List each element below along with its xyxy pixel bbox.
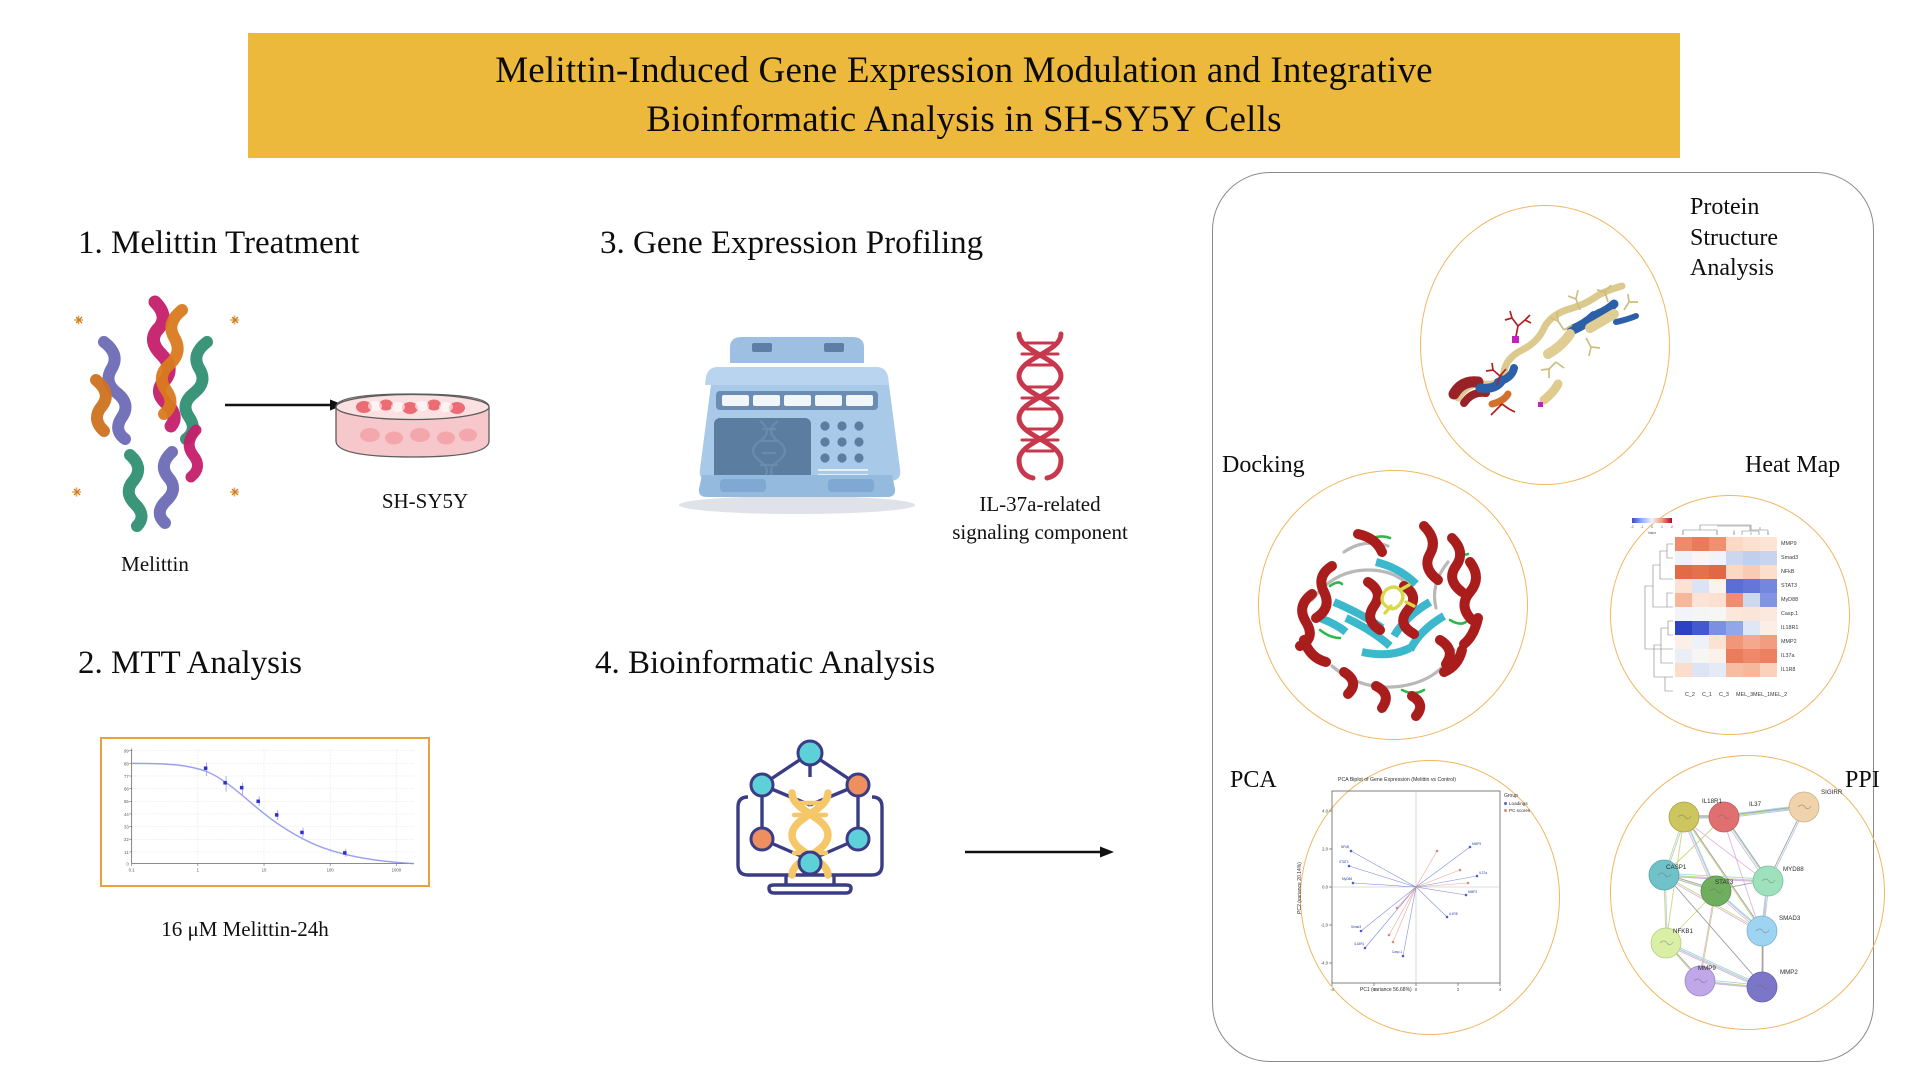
heatmap-cell xyxy=(1726,565,1743,579)
ppi-node-sigirr xyxy=(1789,792,1819,822)
heatmap-cell xyxy=(1743,537,1760,551)
heatmap-column-label: MEL_1 xyxy=(1753,692,1770,698)
heatmap-cell xyxy=(1709,565,1726,579)
pca-legend-label-loadings: Loadings xyxy=(1509,801,1528,806)
heatmap-cell xyxy=(1709,621,1726,635)
heatmap-cell xyxy=(1709,663,1726,677)
heatmap-column-label: C_1 xyxy=(1702,692,1712,698)
pca-legend-item: Loadings xyxy=(1504,801,1530,806)
svg-text:77: 77 xyxy=(124,774,129,779)
heatmap-cell xyxy=(1743,593,1760,607)
heatmap-cell xyxy=(1692,579,1709,593)
panel-label-docking: Docking xyxy=(1222,450,1305,481)
svg-text:0: 0 xyxy=(126,862,129,867)
heatmap-cell xyxy=(1692,537,1709,551)
heatmap-row-label: NFkB xyxy=(1781,565,1798,579)
section-heading-gene-expression-profiling: 3. Gene Expression Profiling xyxy=(600,225,983,262)
pca-legend-title: Group xyxy=(1504,793,1530,799)
heatmap-cell xyxy=(1675,649,1692,663)
heatmap-cell xyxy=(1675,579,1692,593)
heatmap-row-labels: MMP9 Smad3 NFkB STAT3 MyD88 Casp.1 IL18R… xyxy=(1781,537,1798,677)
heatmap-row-label: Casp.1 xyxy=(1781,607,1798,621)
heatmap-cell-grid xyxy=(1675,537,1777,677)
heatmap-cell xyxy=(1692,649,1709,663)
ppi-node-myd88 xyxy=(1753,866,1783,896)
heatmap-cell xyxy=(1675,621,1692,635)
heatmap-cell xyxy=(1709,607,1726,621)
ppi-node-mmp2 xyxy=(1747,972,1777,1002)
mtt-dose-response-chart: 9988 7766 5544 3322 110 0.11 10100 1000 xyxy=(100,737,430,887)
title-line-2: Bioinformatic Analysis in SH-SY5Y Cells xyxy=(646,99,1281,140)
section-heading-bioinformatic-analysis: 4. Bioinformatic Analysis xyxy=(595,645,935,682)
heatmap-cell xyxy=(1726,579,1743,593)
pca-y-axis-label: PC2 (variance 20.14%) xyxy=(1297,862,1303,914)
caption-dna-signaling: IL-37a-related signaling component xyxy=(940,490,1140,547)
ppi-node-label-nfkb1: NFKB1 xyxy=(1673,928,1693,935)
heatmap-cell xyxy=(1709,635,1726,649)
arrow-melittin-to-cells-icon xyxy=(225,398,345,412)
heatmap-cell xyxy=(1743,649,1760,663)
heatmap-cell xyxy=(1760,635,1777,649)
melittin-ribbon-structure-icon xyxy=(60,280,250,530)
svg-text:4: 4 xyxy=(1499,987,1502,992)
heatmap-column-label: C_2 xyxy=(1685,692,1695,698)
panel-label-pca: PCA xyxy=(1230,765,1277,796)
svg-text:33: 33 xyxy=(124,825,129,830)
heatmap-cell xyxy=(1675,551,1692,565)
ppi-network-graph xyxy=(1628,775,1868,1020)
section-heading-mtt-analysis: 2. MTT Analysis xyxy=(78,645,302,682)
heatmap-row-label: IL1R8 xyxy=(1781,663,1798,677)
ppi-node-label-il37: IL37 xyxy=(1749,801,1761,808)
pca-x-axis-label: PC1 (variance 56.68%) xyxy=(1360,987,1412,993)
heatmap-cell xyxy=(1675,663,1692,677)
heatmap-column-label: C_3 xyxy=(1719,692,1729,698)
pca-legend-item: PC scores xyxy=(1504,808,1530,813)
heatmap-cell xyxy=(1760,607,1777,621)
heatmap-cell xyxy=(1743,579,1760,593)
heatmap-cell xyxy=(1675,607,1692,621)
svg-text:-4: -4 xyxy=(1330,987,1334,992)
heatmap-cell xyxy=(1760,593,1777,607)
heatmap-cell xyxy=(1692,621,1709,635)
heatmap-row-label: Smad3 xyxy=(1781,551,1798,565)
heatmap-cell xyxy=(1726,621,1743,635)
heatmap-cell xyxy=(1692,663,1709,677)
heatmap-cell xyxy=(1743,621,1760,635)
heatmap-row-label: MyD88 xyxy=(1781,593,1798,607)
svg-text:22: 22 xyxy=(124,837,129,842)
svg-text:100: 100 xyxy=(327,867,335,872)
pca-legend: Group Loadings PC scores xyxy=(1504,793,1530,814)
protein-structure-ribbon-icon xyxy=(1440,270,1650,420)
heatmap-cell xyxy=(1709,537,1726,551)
heatmap-cell xyxy=(1760,663,1777,677)
caption-melittin: Melittin xyxy=(90,550,220,578)
svg-text:Casp.1: Casp.1 xyxy=(1392,950,1402,954)
heatmap-cell xyxy=(1709,593,1726,607)
heatmap-row-label: MMP9 xyxy=(1781,537,1798,551)
pca-title: PCA Biplot of Gene Expression (Melittin … xyxy=(1338,777,1456,783)
svg-text:MMP2: MMP2 xyxy=(1468,890,1477,894)
heatmap-cell xyxy=(1675,593,1692,607)
heatmap-cell xyxy=(1760,649,1777,663)
ppi-node-label-il18r1: IL18R1 xyxy=(1702,798,1722,805)
heatmap-cell xyxy=(1743,565,1760,579)
heatmap-row-label: IL18R1 xyxy=(1781,621,1798,635)
svg-text:55: 55 xyxy=(124,799,129,804)
svg-text:IL1R8: IL1R8 xyxy=(1449,912,1458,916)
heatmap-cell xyxy=(1726,635,1743,649)
section-heading-melittin-treatment: 1. Melittin Treatment xyxy=(78,225,359,262)
heatmap-cell xyxy=(1726,607,1743,621)
title-banner: Melittin-Induced Gene Expression Modulat… xyxy=(248,33,1680,158)
svg-text:MyD88: MyD88 xyxy=(1342,877,1352,881)
svg-text:2.0: 2.0 xyxy=(1322,847,1328,852)
heatmap-cell xyxy=(1692,635,1709,649)
svg-text:0: 0 xyxy=(1415,987,1418,992)
svg-text:MMP9: MMP9 xyxy=(1472,842,1481,846)
svg-text:4.0: 4.0 xyxy=(1322,809,1328,814)
pca-legend-label-pc-scores: PC scores xyxy=(1509,808,1530,813)
svg-text:66: 66 xyxy=(124,787,129,792)
heatmap-cell xyxy=(1760,621,1777,635)
heatmap-cell xyxy=(1675,635,1692,649)
pca-legend-swatch-pc-scores xyxy=(1504,809,1507,812)
svg-text:STAT3: STAT3 xyxy=(1339,860,1349,864)
heatmap-column-labels: C_2 C_1 C_3 MEL_3 MEL_1 MEL_2 xyxy=(1675,681,1777,699)
heatmap-cell xyxy=(1692,607,1709,621)
svg-text:44: 44 xyxy=(124,812,129,817)
ppi-node-label-stat3: STAT3 xyxy=(1715,879,1733,886)
ppi-node-il37 xyxy=(1709,802,1739,832)
heatmap-cell xyxy=(1709,649,1726,663)
heatmap-cell xyxy=(1692,551,1709,565)
ppi-node-label-sigirr: SIGIRR xyxy=(1821,789,1842,796)
docking-complex-structure-icon xyxy=(1272,490,1512,725)
pca-legend-swatch-loadings xyxy=(1504,802,1507,805)
heatmap-row-label: IL37a xyxy=(1781,649,1798,663)
bioinformatics-network-monitor-icon xyxy=(720,735,900,905)
panel-label-heat-map: Heat Map xyxy=(1745,450,1840,481)
heatmap-cell xyxy=(1760,537,1777,551)
title-line-1: Melittin-Induced Gene Expression Modulat… xyxy=(495,50,1433,91)
heatmap-cell xyxy=(1743,607,1760,621)
ppi-node-label-mmp9: MMP9 xyxy=(1698,965,1716,972)
heatmap-cell xyxy=(1726,537,1743,551)
heatmap-cell xyxy=(1692,565,1709,579)
svg-text:1: 1 xyxy=(197,867,200,872)
svg-text:IL37a: IL37a xyxy=(1479,871,1487,875)
ppi-node-label-myd88: MYD88 xyxy=(1783,866,1804,873)
caption-shsy5y-cells: SH-SY5Y xyxy=(350,487,500,515)
heatmap-cell xyxy=(1726,593,1743,607)
heatmap-cell xyxy=(1760,551,1777,565)
svg-text:1000: 1000 xyxy=(392,867,402,872)
heatmap-cell xyxy=(1743,663,1760,677)
heatmap-row-label: MMP2 xyxy=(1781,635,1798,649)
heatmap-cell xyxy=(1675,537,1692,551)
gene-expression-heatmap: -2-1 012 Value xyxy=(1627,517,1835,707)
svg-text:-4.0: -4.0 xyxy=(1321,961,1329,966)
svg-text:IL18R1: IL18R1 xyxy=(1354,942,1365,946)
heatmap-column-label: MEL_3 xyxy=(1736,692,1753,698)
ppi-node-smad3 xyxy=(1747,916,1777,946)
dna-helix-icon xyxy=(1005,330,1075,480)
heatmap-cell xyxy=(1760,579,1777,593)
ppi-node-label-smad3: SMAD3 xyxy=(1779,915,1800,922)
svg-text:0.1: 0.1 xyxy=(129,867,136,872)
heatmap-column-label: MEL_2 xyxy=(1770,692,1787,698)
svg-text:2: 2 xyxy=(1457,987,1460,992)
heatmap-cell xyxy=(1743,635,1760,649)
pca-biplot: PCA Biplot of Gene Expression (Melittin … xyxy=(1318,775,1548,1020)
caption-mtt-condition: 16 μM Melittin-24h xyxy=(100,915,390,943)
heatmap-cell xyxy=(1726,551,1743,565)
heatmap-cell xyxy=(1743,551,1760,565)
panel-label-protein-structure: Protein Structure Analysis xyxy=(1690,192,1820,284)
heatmap-cell xyxy=(1675,565,1692,579)
heatmap-cell xyxy=(1709,579,1726,593)
pcr-thermocycler-icon xyxy=(672,325,922,515)
ppi-network: IL18R1 IL37 SIGIRR CASP1 MYD88 STAT3 SMA… xyxy=(1628,775,1868,1020)
petri-dish-icon xyxy=(330,385,495,470)
svg-text:-2.0: -2.0 xyxy=(1321,923,1329,928)
page-title: Melittin-Induced Gene Expression Modulat… xyxy=(465,47,1463,145)
ppi-node-label-casp1: CASP1 xyxy=(1666,864,1686,871)
ppi-node-il18r1 xyxy=(1669,802,1699,832)
arrow-to-results-panel-icon xyxy=(965,845,1115,859)
heatmap-row-label: STAT3 xyxy=(1781,579,1798,593)
ppi-node-label-mmp2: MMP2 xyxy=(1780,969,1798,976)
svg-text:88: 88 xyxy=(124,761,129,766)
heatmap-cell xyxy=(1709,551,1726,565)
svg-text:0.0: 0.0 xyxy=(1322,885,1328,890)
heatmap-cell xyxy=(1726,649,1743,663)
heatmap-cell xyxy=(1726,663,1743,677)
svg-text:Smad3: Smad3 xyxy=(1351,925,1361,929)
svg-text:NFkB: NFkB xyxy=(1341,845,1349,849)
heatmap-cell xyxy=(1692,593,1709,607)
heatmap-cell xyxy=(1760,565,1777,579)
svg-text:99: 99 xyxy=(124,749,129,754)
svg-text:10: 10 xyxy=(262,867,267,872)
svg-text:11: 11 xyxy=(124,850,129,855)
